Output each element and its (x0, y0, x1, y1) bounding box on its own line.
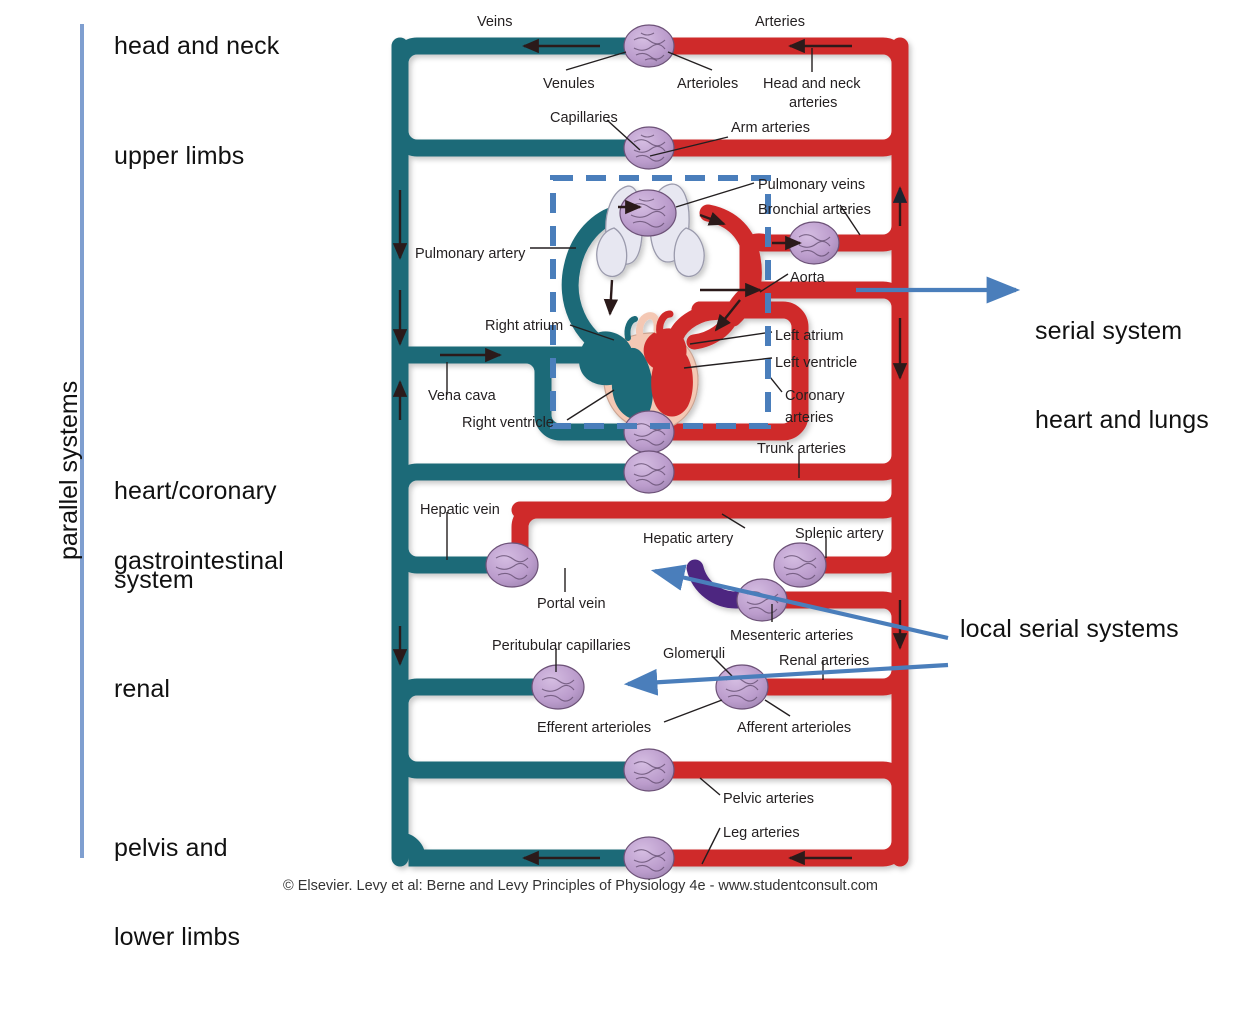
capillary-bed-head-neck (624, 25, 674, 67)
vein-leg (400, 841, 640, 858)
bronchial-arteries-label: Bronchial arteries (758, 202, 871, 219)
capillary-bed-coronary (624, 411, 674, 453)
right-ventricle-label: Right ventricle (462, 415, 554, 432)
sidebar-item-heart-coronary-line1: heart/coronary (114, 477, 277, 507)
copyright-credit: © Elsevier. Levy et al: Berne and Levy P… (283, 878, 878, 894)
veins-label: Veins (477, 14, 512, 31)
local-serial-systems-callout[interactable]: local serial systems (960, 615, 1179, 645)
arteries-label: Arteries (755, 14, 805, 31)
sidebar-item-pelvis-line1: pelvis and (114, 834, 240, 864)
capillary-bed-arm (624, 127, 674, 169)
serial-system-callout-line1: serial system (1035, 317, 1209, 347)
splenic-artery-label: Splenic artery (795, 526, 884, 543)
serial-system-callout-line2: heart and lungs (1035, 406, 1209, 436)
left-atrium-label: Left atrium (775, 328, 844, 345)
capillary-bed-pelvic (624, 749, 674, 791)
sidebar-item-head-and-neck[interactable]: head and neck (114, 32, 279, 62)
vein-pelvic (400, 753, 640, 770)
capillary-bed-peritubular (532, 665, 584, 709)
pulmonary-artery-label: Pulmonary artery (415, 246, 525, 263)
capillary-bed-liver (486, 543, 538, 587)
arterioles-label: Arterioles (677, 76, 738, 93)
sidebar-item-heart-coronary-system[interactable]: heart/coronary system (114, 418, 277, 654)
glomeruli-label: Glomeruli (663, 646, 725, 663)
peritubular-capillaries-label: Peritubular capillaries (492, 638, 631, 655)
sidebar-item-pelvis-line2: lower limbs (114, 923, 240, 953)
artery-head-neck (672, 46, 900, 63)
vein-head-neck (400, 46, 640, 63)
slide-canvas: parallel systems head and neck upper lim… (0, 0, 1255, 915)
hepatic-vein-label: Hepatic vein (420, 502, 500, 519)
right-atrium-label: Right atrium (485, 318, 563, 335)
mesenteric-arteries-label: Mesenteric arteries (730, 628, 853, 645)
vein-renal (400, 687, 551, 704)
pelvic-arteries-label: Pelvic arteries (723, 791, 814, 808)
pulmonary-veins-label: Pulmonary veins (758, 177, 865, 194)
capillary-bed-glomeruli (716, 665, 768, 709)
venules-label: Venules (543, 76, 595, 93)
capillary-bed-trunk (624, 451, 674, 493)
parallel-systems-label: parallel systems (55, 381, 84, 560)
hepatic-artery (520, 493, 900, 510)
afferent-arterioles-label: Afferent arterioles (737, 720, 851, 737)
vein-trunk (400, 472, 640, 489)
efferent-arterioles-label: Efferent arterioles (537, 720, 651, 737)
coronary-arteries-label-2: arteries (785, 410, 833, 427)
capillaries-label: Capillaries (550, 110, 618, 127)
vein-upper-limbs (400, 131, 640, 148)
hepatic-artery-label: Hepatic artery (643, 531, 733, 548)
leg-arteries-label: Leg arteries (723, 825, 800, 842)
artery-pelvic (672, 770, 900, 787)
aorta-label: Aorta (790, 270, 825, 287)
sidebar-item-renal[interactable]: renal (114, 675, 170, 705)
vena-cava-label: Vena cava (428, 388, 496, 405)
capillary-bed-leg (624, 837, 674, 879)
trunk-arteries-label: Trunk arteries (757, 441, 846, 458)
sidebar-item-gastrointestinal[interactable]: gastrointestinal (114, 547, 284, 577)
portal-vein-label: Portal vein (537, 596, 606, 613)
head-and-neck-arteries-label: Head and neck (763, 76, 861, 93)
serial-system-callout[interactable]: serial system heart and lungs (1035, 258, 1209, 494)
hepatic-artery-elbow (520, 510, 537, 548)
capillary-bed-pulmonary (620, 190, 676, 236)
sidebar-item-pelvis-and-lower-limbs[interactable]: pelvis and lower limbs (114, 775, 240, 1011)
head-and-neck-arteries-label-2: arteries (789, 95, 837, 112)
left-ventricle-label: Left ventricle (775, 355, 857, 372)
sidebar-item-upper-limbs[interactable]: upper limbs (114, 142, 244, 172)
coronary-arteries-label: Coronary (785, 388, 845, 405)
arm-arteries-label: Arm arteries (731, 120, 810, 137)
capillary-bed-splenic (774, 543, 826, 587)
renal-arteries-label: Renal arteries (779, 653, 869, 670)
